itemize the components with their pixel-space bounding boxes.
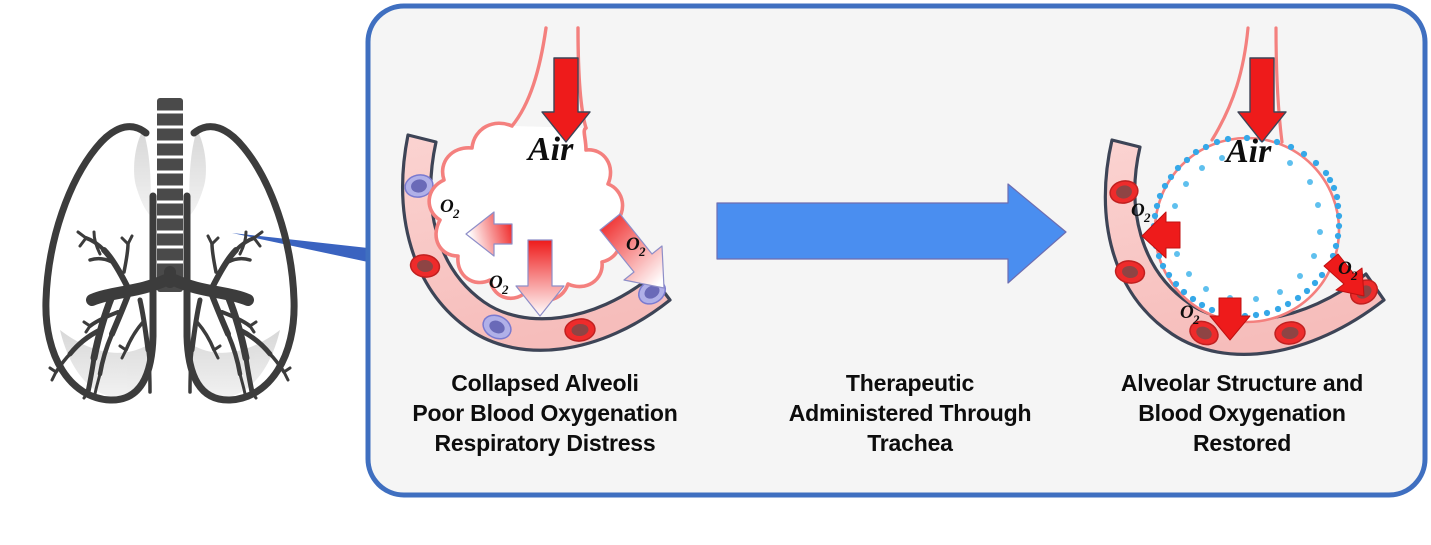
svg-text:2: 2: [452, 206, 460, 221]
caption-line: Respiratory Distress: [385, 428, 705, 458]
caption-therapeutic: Therapeutic Administered Through Trachea: [752, 368, 1068, 458]
caption-line: Collapsed Alveoli: [385, 368, 705, 398]
caption-line: Blood Oxygenation: [1082, 398, 1402, 428]
trachea: [157, 98, 183, 292]
caption-collapsed-alveoli: Collapsed Alveoli Poor Blood Oxygenation…: [385, 368, 705, 458]
svg-text:O: O: [1180, 302, 1194, 323]
air-label-right: Air: [1224, 133, 1272, 170]
diagram-canvas: Air O 2 O 2 O 2 Air O 2 O 2 O 2: [0, 0, 1431, 545]
caption-line: Restored: [1082, 428, 1402, 458]
caption-line: Administered Through: [752, 398, 1068, 428]
svg-text:2: 2: [1192, 312, 1200, 327]
svg-text:O: O: [489, 272, 503, 293]
svg-text:2: 2: [501, 282, 509, 297]
svg-text:2: 2: [1143, 210, 1151, 225]
caption-restored: Alveolar Structure and Blood Oxygenation…: [1082, 368, 1402, 458]
caption-line: Trachea: [752, 428, 1068, 458]
svg-text:2: 2: [638, 244, 646, 259]
svg-text:O: O: [440, 196, 454, 217]
caption-line: Poor Blood Oxygenation: [385, 398, 705, 428]
svg-text:O: O: [1338, 258, 1352, 279]
lungs-illustration: [46, 98, 294, 400]
svg-text:2: 2: [1350, 268, 1358, 283]
figure-root: Air O 2 O 2 O 2 Air O 2 O 2 O 2 Co: [0, 0, 1431, 545]
caption-line: Therapeutic: [752, 368, 1068, 398]
svg-text:O: O: [626, 234, 640, 255]
air-label-left: Air: [526, 131, 574, 168]
caption-line: Alveolar Structure and: [1082, 368, 1402, 398]
svg-text:O: O: [1131, 200, 1145, 221]
